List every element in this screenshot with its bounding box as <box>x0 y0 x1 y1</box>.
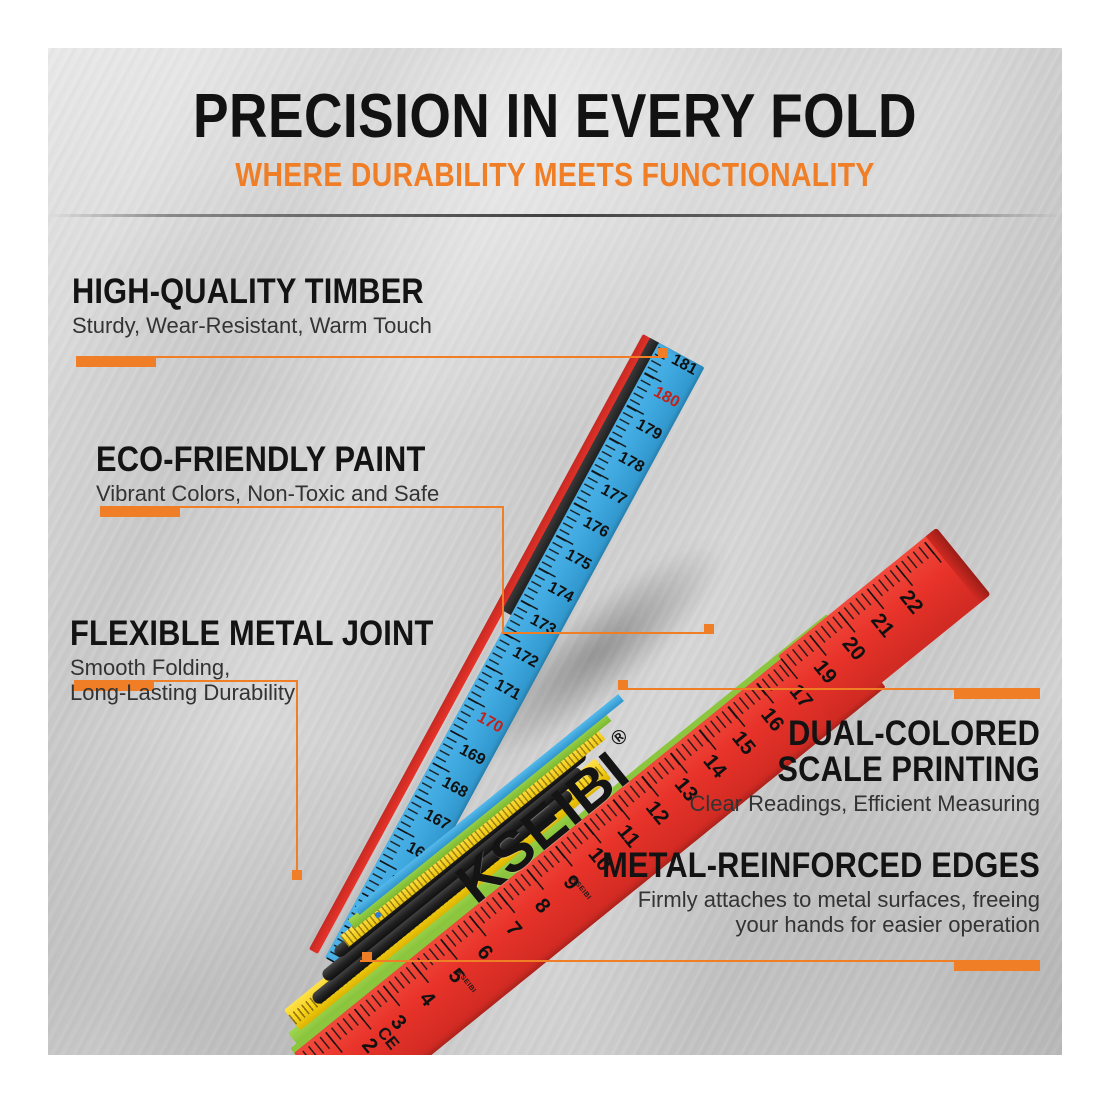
feature-subtitle: Clear Readings, Efficient Measuring <box>480 791 1040 816</box>
feature-eco-friendly-paint: ECO-FRIENDLY PAINT Vibrant Colors, Non-T… <box>96 442 470 506</box>
feature-dual-colored-scale-printing: DUAL-COLORED SCALE PRINTING Clear Readin… <box>480 716 1040 816</box>
feature-title: HIGH-QUALITY TIMBER <box>72 274 424 310</box>
feature-title-line-1: DUAL-COLORED <box>547 716 1040 752</box>
feature-subtitle-line-1: Smooth Folding, <box>70 655 483 680</box>
poster-canvas: 163164 165166 167168 169 170 171172 1731… <box>48 48 1062 1055</box>
feature-subtitle-line-2: your hands for easier operation <box>440 912 1040 937</box>
feature-title: ECO-FRIENDLY PAINT <box>96 442 425 478</box>
poster-header: PRECISION IN EVERY FOLD WHERE DURABILITY… <box>48 48 1062 192</box>
text-layer: PRECISION IN EVERY FOLD WHERE DURABILITY… <box>48 48 1062 1055</box>
feature-subtitle-line-2: Long-Lasting Durability <box>70 680 483 705</box>
feature-title-line-2: SCALE PRINTING <box>547 752 1040 788</box>
feature-subtitle-line-1: Firmly attaches to metal surfaces, freei… <box>440 887 1040 912</box>
feature-subtitle: Vibrant Colors, Non-Toxic and Safe <box>96 481 470 506</box>
feature-title: FLEXIBLE METAL JOINT <box>70 616 433 652</box>
page-subtitle: WHERE DURABILITY MEETS FUNCTIONALITY <box>119 158 991 192</box>
feature-flexible-metal-joint: FLEXIBLE METAL JOINT Smooth Folding, Lon… <box>70 616 483 705</box>
feature-metal-reinforced-edges: METAL-REINFORCED EDGES Firmly attaches t… <box>440 848 1040 937</box>
feature-high-quality-timber: HIGH-QUALITY TIMBER Sturdy, Wear-Resista… <box>72 274 472 338</box>
page-title: PRECISION IN EVERY FOLD <box>119 86 991 148</box>
feature-subtitle: Sturdy, Wear-Resistant, Warm Touch <box>72 313 472 338</box>
header-divider <box>48 214 1062 217</box>
feature-title: METAL-REINFORCED EDGES <box>512 848 1040 884</box>
